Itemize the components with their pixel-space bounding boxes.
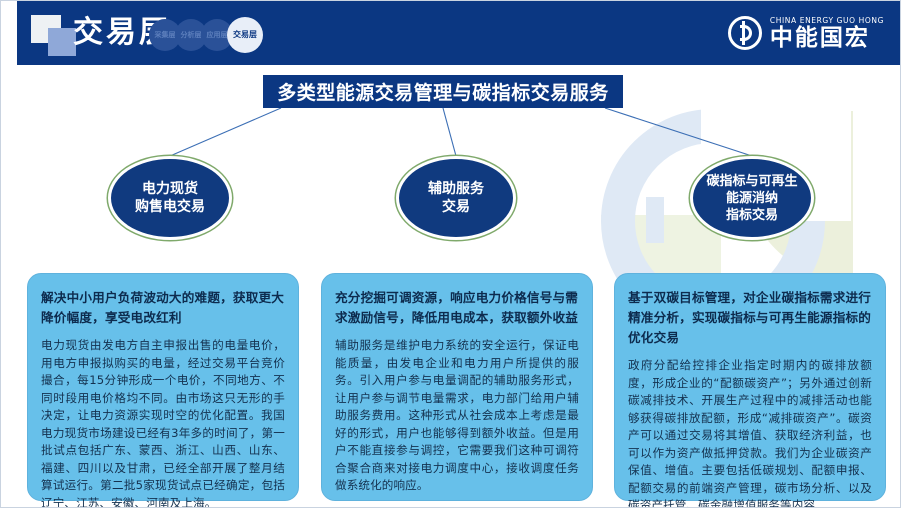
brand-english-name: CHINA ENERGY GUO HONG <box>770 16 884 25</box>
layer-dot-label: 交易层 <box>233 31 257 39</box>
node-label-line: 能源消纳 <box>706 190 797 207</box>
layer-nav: 采集层 分析层 应用层 交易层 <box>149 19 257 51</box>
slide-canvas: 交易层 采集层 分析层 应用层 交易层 CHINA ENERGY GUO HON… <box>0 0 901 508</box>
layer-dot-label: 分析层 <box>181 32 202 39</box>
page-title: 多类型能源交易管理与碳指标交易服务 <box>263 75 623 108</box>
china-energy-guohong-logo-icon <box>728 16 762 50</box>
watermark-bar <box>646 197 664 243</box>
card-carbon-renewable-index-trading: 基于双碳目标管理，对企业碳指标需求进行精准分析，实现碳指标与可再生能源指标的优化… <box>614 273 886 501</box>
card-electricity-spot-trading: 解决中小用户负荷波动大的难题，获取更大降价幅度，享受电改红利 电力现货由发电方自… <box>27 273 299 501</box>
brand-text: CHINA ENERGY GUO HONG 中能国宏 <box>770 16 884 50</box>
card-heading: 解决中小用户负荷波动大的难题，获取更大降价幅度，享受电改红利 <box>41 288 285 328</box>
card-heading: 基于双碳目标管理，对企业碳指标需求进行精准分析，实现碳指标与可再生能源指标的优化… <box>628 288 872 348</box>
card-body-text: 电力现货由发电方自主申报出售的电量电价，用电方申报拟购买的电量，经过交易平台竞价… <box>41 337 285 508</box>
card-body-text: 政府分配给控排企业指定时期内的碳排放额度，形成企业的“配额碳资产”；另外通过创新… <box>628 357 872 508</box>
node-ancillary-service-trading[interactable]: 辅助服务 交易 <box>396 156 516 240</box>
brand-chinese-name: 中能国宏 <box>770 26 884 50</box>
node-label: 碳指标与可再生 能源消纳 指标交易 <box>706 173 797 224</box>
node-label-line: 电力现货 <box>135 180 205 198</box>
card-ancillary-service-trading: 充分挖掘可调资源，响应电力价格信号与需求激励信号，降低用电成本，获取额外收益 辅… <box>321 273 593 501</box>
node-electricity-spot-trading[interactable]: 电力现货 购售电交易 <box>108 156 232 240</box>
node-label-line: 指标交易 <box>706 207 797 224</box>
node-label-line: 碳指标与可再生 <box>706 173 797 190</box>
node-label: 辅助服务 交易 <box>428 180 484 216</box>
node-label-line: 辅助服务 <box>428 180 484 198</box>
node-label: 电力现货 购售电交易 <box>135 180 205 216</box>
node-label-line: 交易 <box>428 198 484 216</box>
layer-dot-label: 采集层 <box>155 32 176 39</box>
brand-logo: CHINA ENERGY GUO HONG 中能国宏 <box>728 12 884 54</box>
node-label-line: 购售电交易 <box>135 198 205 216</box>
card-body-text: 辅助服务是维护电力系统的安全运行，保证电能质量，由发电企业和电力用户所提供的服务… <box>335 337 579 495</box>
square-blue-icon <box>48 28 76 56</box>
card-heading: 充分挖掘可调资源，响应电力价格信号与需求激励信号，降低用电成本，获取额外收益 <box>335 288 579 328</box>
node-carbon-renewable-index-trading[interactable]: 碳指标与可再生 能源消纳 指标交易 <box>690 156 814 240</box>
layer-dot-label: 应用层 <box>207 32 228 39</box>
header-left-stripe <box>1 1 17 65</box>
header-bar: 交易层 采集层 分析层 应用层 交易层 CHINA ENERGY GUO HON… <box>1 1 901 65</box>
layer-dot-trading[interactable]: 交易层 <box>227 17 263 53</box>
